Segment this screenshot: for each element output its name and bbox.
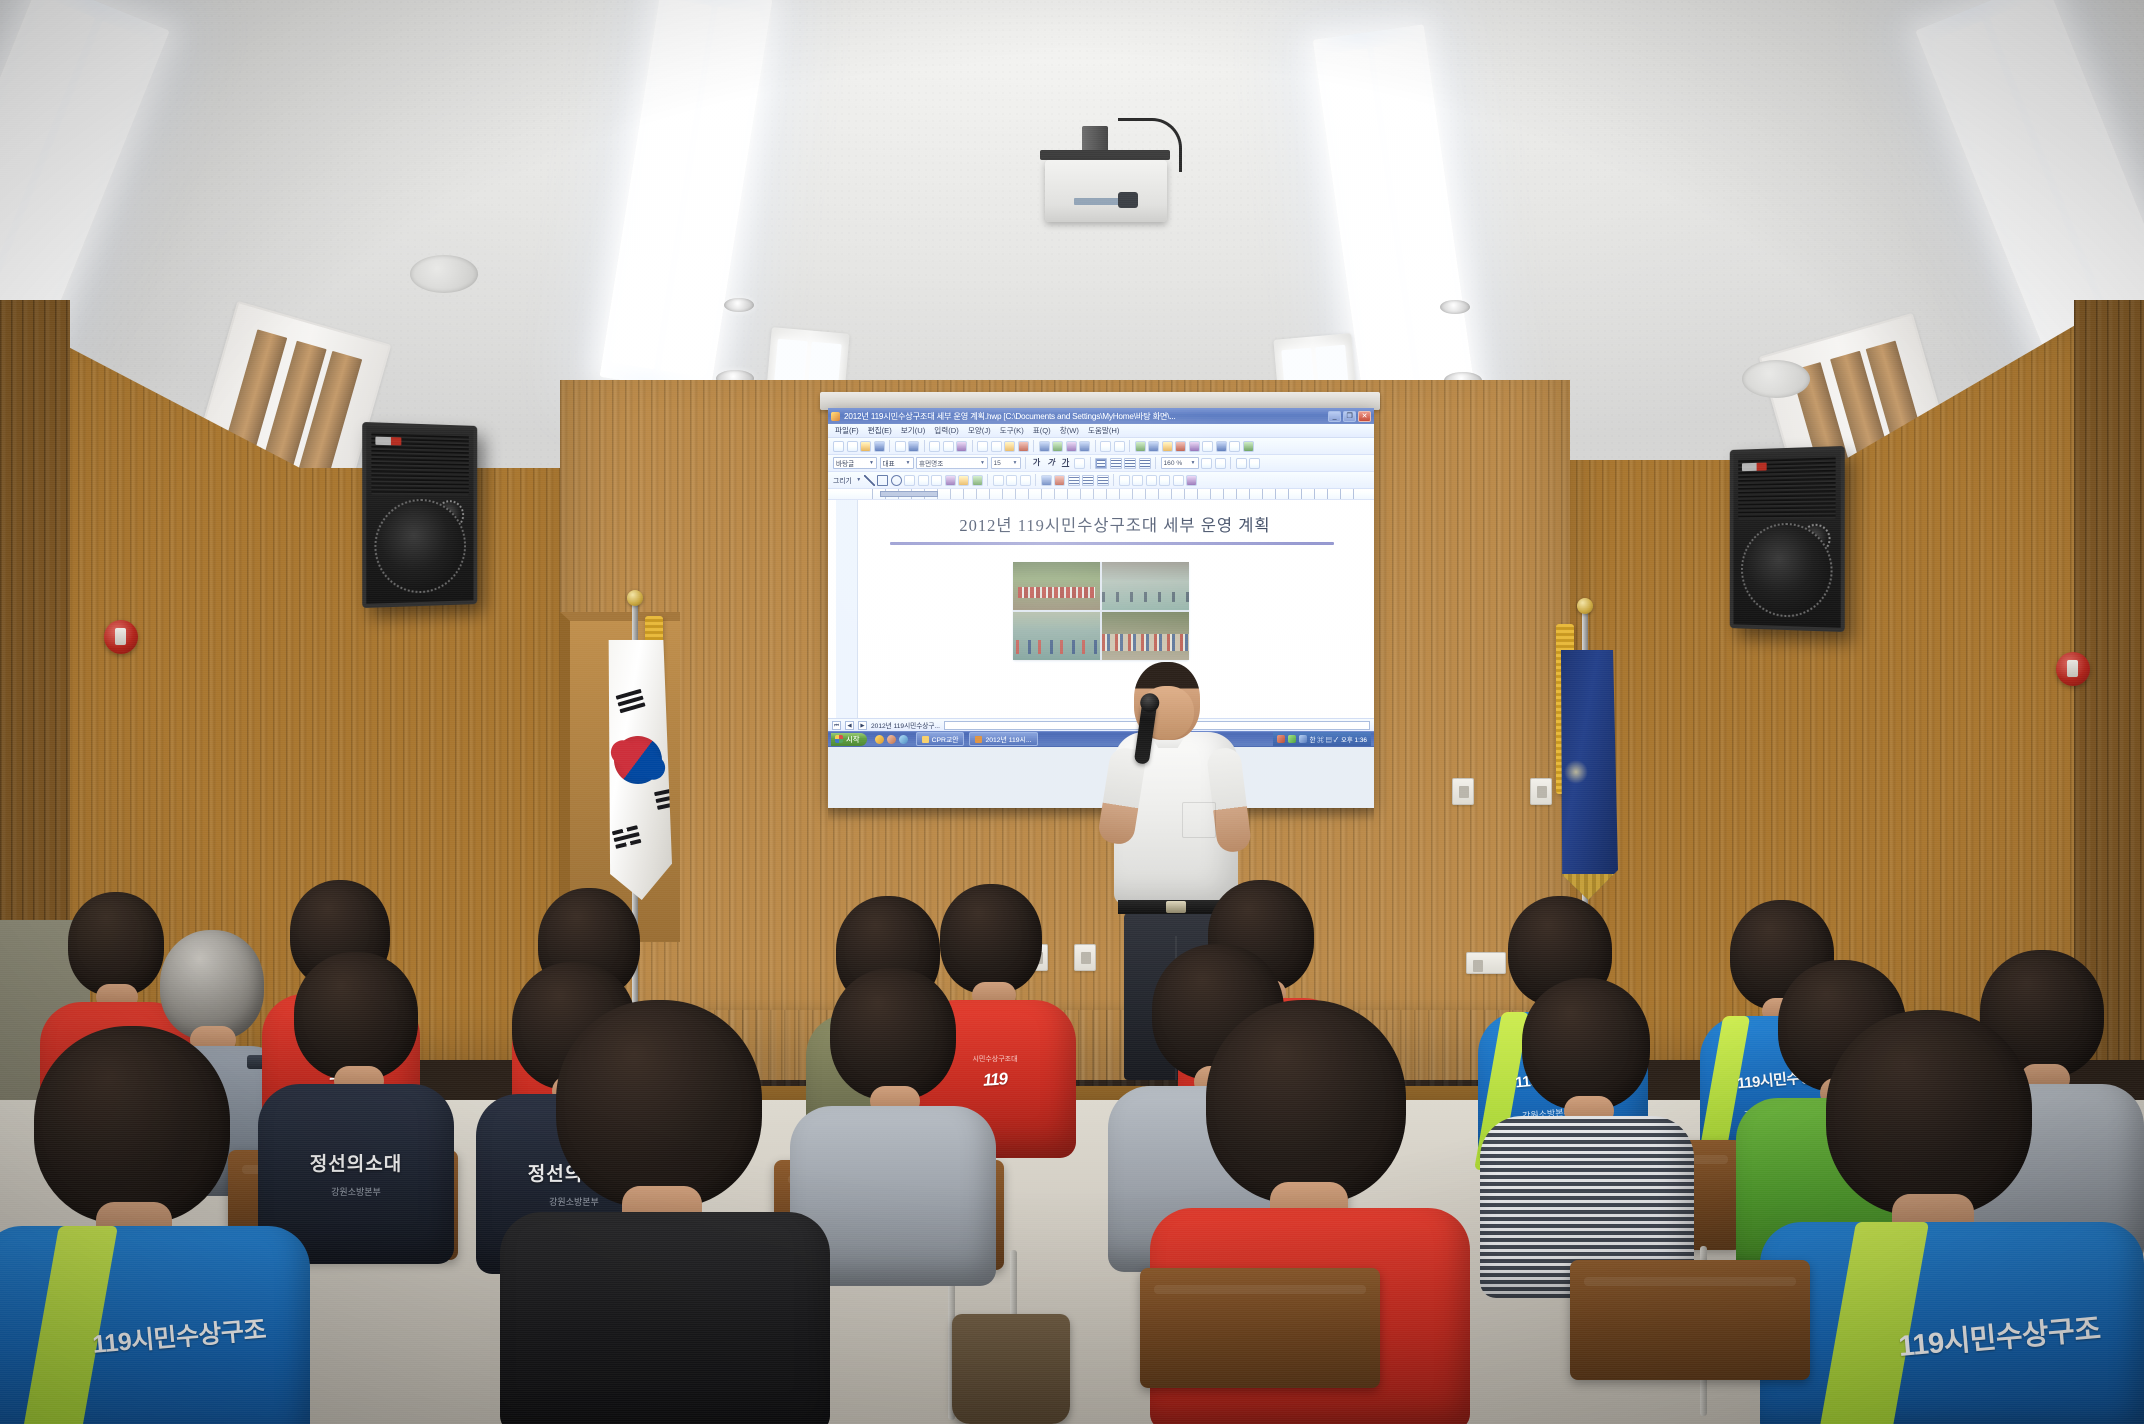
vest-text: 119시민수상구조 — [1897, 1303, 2130, 1365]
ellipse-tool-icon[interactable] — [891, 475, 902, 486]
flip-v-icon[interactable] — [1159, 475, 1170, 486]
document-photo-collage — [1013, 562, 1189, 660]
bullet-list-icon[interactable] — [1236, 458, 1247, 469]
collage-photo-2 — [1102, 562, 1189, 610]
hyperlink-icon[interactable] — [1175, 441, 1186, 452]
ceiling-speaker-icon — [410, 255, 478, 293]
face-combo[interactable]: 대표 ▼ — [880, 457, 914, 469]
collage-photo-1 — [1013, 562, 1100, 610]
jacket-back-text: 정선의소대 — [310, 1149, 402, 1176]
menu-item-help[interactable]: 도움말(H) — [1088, 425, 1120, 436]
document-heading-rule — [890, 542, 1334, 545]
taeguk-symbol-icon — [608, 730, 668, 790]
hwp-status-bar: ⏮ ◀ ▶ 2012년 119시민수상구... — [828, 718, 1374, 731]
hwp-icon — [975, 736, 982, 743]
ime-indicator[interactable]: 한 ⌘ ▤ ✓ — [1310, 735, 1338, 744]
audience-member: 119시민수상구조 — [1760, 1010, 2144, 1424]
korean-national-flag — [600, 640, 672, 900]
draw-toolbar-label: 그리기 — [833, 475, 854, 485]
shadow-icon[interactable] — [1173, 475, 1184, 486]
para-shape-icon[interactable] — [1052, 441, 1063, 452]
document-tab-label[interactable]: 2012년 119시민수상구... — [871, 720, 940, 730]
bold-button[interactable]: 가 — [1031, 457, 1043, 469]
ceiling-projector — [1045, 160, 1167, 222]
collage-photo-4 — [1102, 612, 1189, 660]
start-button-label: 시작 — [846, 734, 860, 745]
quicklaunch-icon-3[interactable] — [899, 735, 908, 744]
textbox-tool-icon[interactable] — [958, 475, 969, 486]
chevron-down-icon: ▼ — [867, 460, 874, 466]
folder-icon — [922, 736, 929, 743]
insert-image-icon[interactable] — [972, 475, 983, 486]
hwp-window: 2012년 119시민수상구조대 세부 운영 계획.hwp [C:\Docume… — [828, 408, 1374, 808]
char-shape-icon[interactable] — [1039, 441, 1050, 452]
new-document-icon[interactable] — [833, 441, 844, 452]
hwp-ruler[interactable] — [828, 489, 1374, 500]
pa-speaker-right — [1730, 446, 1845, 632]
quick-launch-bar — [872, 735, 911, 744]
hwp-title-bar: 2012년 119시민수상구조대 세부 운영 계획.hwp [C:\Docume… — [828, 408, 1374, 424]
auditorium-photo: 2012년 119시민수상구조대 세부 운영 계획.hwp [C:\Docume… — [0, 0, 2144, 1424]
projector-plate — [1040, 150, 1170, 160]
chevron-down-icon: ▼ — [978, 460, 985, 466]
underline-button[interactable]: 가 — [1060, 457, 1072, 469]
hwp-format-toolbar: 바탕글 ▼ 대표 ▼ 휴먼명조 ▼ 15 ▼ 가 가 가 — [828, 455, 1374, 472]
send-back-icon[interactable] — [1132, 475, 1143, 486]
copy-icon[interactable] — [991, 441, 1002, 452]
chart-icon[interactable] — [1135, 441, 1146, 452]
quicklaunch-icon-2[interactable] — [887, 735, 896, 744]
wall-outlet — [1530, 778, 1552, 805]
print-icon[interactable] — [895, 441, 906, 452]
align-center-button[interactable] — [1110, 458, 1122, 469]
arc-tool-icon[interactable] — [904, 475, 915, 486]
distribute-objects-icon[interactable] — [1082, 475, 1094, 486]
quicklaunch-icon-1[interactable] — [875, 735, 884, 744]
fire-alarm-icon — [2056, 652, 2090, 686]
jacket-back-sub: 강원소방본부 — [331, 1185, 381, 1198]
ungroup-icon[interactable] — [1020, 475, 1031, 486]
minimize-button[interactable]: _ — [1328, 411, 1341, 422]
style-combo[interactable]: 바탕글 ▼ — [833, 457, 877, 469]
downlight — [1440, 300, 1470, 314]
menu-item-edit[interactable]: 편집(E) — [868, 425, 892, 436]
organization-flag — [1556, 650, 1618, 900]
tray-icon-2[interactable] — [1288, 735, 1296, 743]
rotate-icon[interactable] — [993, 475, 1004, 486]
projection-screen: 2012년 119시민수상구조대 세부 운영 계획.hwp [C:\Docume… — [828, 408, 1374, 808]
tray-icon-3[interactable] — [1299, 735, 1307, 743]
menu-item-shape[interactable]: 모양(J) — [968, 425, 991, 436]
paste-icon[interactable] — [1004, 441, 1015, 452]
tray-icon-1[interactable] — [1277, 735, 1285, 743]
audience-member — [1480, 978, 1694, 1288]
insert-row-icon[interactable] — [1100, 441, 1111, 452]
audience-member: 119시민수상구조 — [0, 1026, 310, 1424]
bring-front-icon[interactable] — [1119, 475, 1130, 486]
curve-tool-icon[interactable] — [931, 475, 942, 486]
taskbar-item-hwp[interactable]: 2012년 119시... — [969, 732, 1037, 746]
table-icon[interactable] — [1079, 441, 1090, 452]
taskbar-clock[interactable]: 오후 1:36 — [1341, 735, 1367, 744]
start-button[interactable]: 시작 — [831, 733, 867, 746]
hwp-menu-bar: 파일(F) 편집(E) 보기(U) 입력(D) 모양(J) 도구(K) 표(Q)… — [828, 424, 1374, 438]
indent-icon[interactable] — [1215, 458, 1226, 469]
chevron-down-icon: ▼ — [1011, 460, 1018, 466]
page-setup-icon[interactable] — [1216, 441, 1227, 452]
next-page-button[interactable]: ▶ — [858, 721, 867, 730]
flag-finial-icon — [1577, 598, 1593, 614]
audience-member — [500, 1000, 830, 1424]
restore-button[interactable]: ❐ — [1343, 411, 1356, 422]
system-tray: 한 ⌘ ▤ ✓ 오후 1:36 — [1273, 732, 1371, 746]
save-icon[interactable] — [874, 441, 885, 452]
vest-text: 119시민수상구조 — [91, 1308, 298, 1362]
font-size-combo[interactable]: 15 ▼ — [991, 457, 1021, 469]
align-justify-button[interactable] — [1139, 458, 1151, 469]
flag-finial-icon — [627, 590, 643, 606]
hwp-app-icon — [831, 412, 840, 421]
print-preview-icon[interactable] — [908, 441, 919, 452]
find-icon[interactable] — [956, 441, 967, 452]
menu-item-input[interactable]: 입력(D) — [934, 425, 959, 436]
chevron-down-icon: ▼ — [1189, 460, 1196, 466]
prev-page-button[interactable]: ◀ — [845, 721, 854, 730]
font-combo[interactable]: 휴먼명조 ▼ — [916, 457, 988, 469]
menu-item-window[interactable]: 창(W) — [1060, 425, 1079, 436]
hwp-title-text: 2012년 119시민수상구조대 세부 운영 계획.hwp [C:\Docume… — [844, 410, 1324, 422]
italic-button[interactable]: 가 — [1045, 457, 1057, 469]
windows-logo-icon — [835, 735, 843, 743]
indent-marker[interactable] — [880, 491, 938, 497]
numbered-list-icon[interactable] — [1249, 458, 1260, 469]
wall-outlet — [1452, 778, 1474, 805]
memo-icon[interactable] — [1202, 441, 1213, 452]
picture-icon[interactable] — [1162, 441, 1173, 452]
ceiling-speaker-icon — [1742, 360, 1810, 398]
align-left-button[interactable] — [1095, 458, 1107, 469]
open-document-icon[interactable] — [847, 441, 858, 452]
order-objects-icon[interactable] — [1097, 475, 1109, 486]
fill-color-icon[interactable] — [1054, 475, 1065, 486]
wall-outlet — [1074, 944, 1096, 971]
style-icon[interactable] — [1066, 441, 1077, 452]
menu-item-view[interactable]: 보기(U) — [901, 425, 926, 436]
zoom-combo[interactable]: 160 % ▼ — [1161, 457, 1199, 469]
line-tool-icon[interactable] — [864, 475, 875, 486]
chair[interactable] — [1140, 1268, 1380, 1388]
chevron-down-icon: ▼ — [904, 460, 911, 466]
flip-h-icon[interactable] — [1146, 475, 1157, 486]
windows-taskbar: 시작 CPR교안 2012년 119시... — [828, 731, 1374, 747]
redo-icon[interactable] — [943, 441, 954, 452]
rectangle-tool-icon[interactable] — [877, 475, 888, 486]
insert-col-icon[interactable] — [1114, 441, 1125, 452]
group-icon[interactable] — [1006, 475, 1017, 486]
chevron-down-icon[interactable]: ▼ — [856, 477, 861, 483]
3d-effect-icon[interactable] — [1186, 475, 1197, 486]
undo-icon[interactable] — [929, 441, 940, 452]
folder-open-icon[interactable] — [860, 441, 871, 452]
menu-item-file[interactable]: 파일(F) — [835, 425, 859, 436]
taskbar-item-folder[interactable]: CPR교안 — [916, 732, 965, 746]
bag — [952, 1314, 1070, 1424]
superscript-icon[interactable] — [1074, 458, 1085, 469]
hwp-standard-toolbar — [828, 438, 1374, 455]
equation-icon[interactable] — [1148, 441, 1159, 452]
first-page-button[interactable]: ⏮ — [832, 721, 841, 730]
spellcheck-icon[interactable] — [1243, 441, 1254, 452]
pa-speaker-left — [362, 422, 477, 608]
line-spacing-icon[interactable] — [1201, 458, 1212, 469]
line-style-icon[interactable] — [1041, 475, 1052, 486]
document-heading: 2012년 119시민수상구조대 세부 운영 계획 — [886, 512, 1344, 536]
freehand-tool-icon[interactable] — [945, 475, 956, 486]
menu-item-tools[interactable]: 도구(K) — [1000, 425, 1024, 436]
fire-alarm-icon — [104, 620, 138, 654]
footnote-icon[interactable] — [1189, 441, 1200, 452]
align-right-button[interactable] — [1124, 458, 1136, 469]
cut-icon[interactable] — [977, 441, 988, 452]
collage-photo-3 — [1013, 612, 1100, 660]
downlight — [724, 298, 754, 312]
polygon-tool-icon[interactable] — [918, 475, 929, 486]
menu-item-table[interactable]: 표(Q) — [1033, 425, 1051, 436]
chair[interactable] — [1570, 1260, 1810, 1380]
align-objects-icon[interactable] — [1068, 475, 1080, 486]
format-brush-icon[interactable] — [1018, 441, 1029, 452]
close-button[interactable]: ✕ — [1358, 411, 1371, 422]
hwp-draw-toolbar: 그리기 ▼ — [828, 472, 1374, 489]
hwp-document-page[interactable]: 2012년 119시민수상구조대 세부 운영 계획 — [828, 500, 1374, 718]
frame-icon[interactable] — [1229, 441, 1240, 452]
